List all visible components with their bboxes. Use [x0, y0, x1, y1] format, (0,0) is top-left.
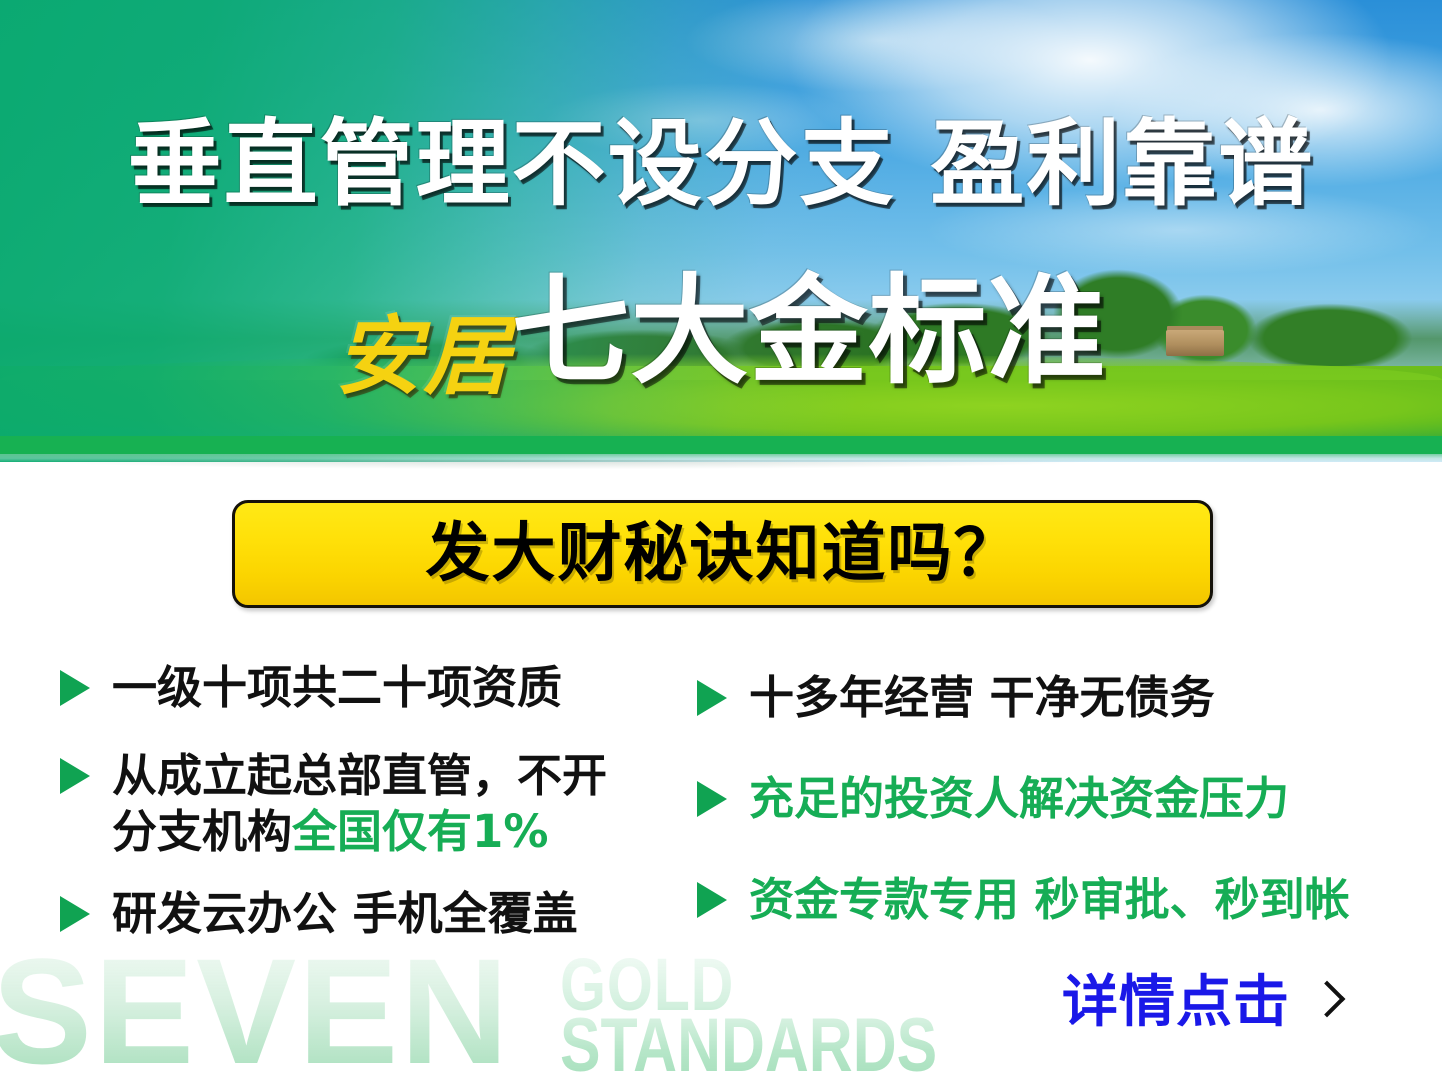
details-click-label: 详情点击 — [1062, 975, 1290, 1031]
hero-drop-shadow — [0, 460, 1442, 474]
play-triangle-icon — [697, 680, 727, 716]
hero-headline-secondary-main: 七大金标准 — [511, 272, 1106, 390]
list-item: 一级十项共二十项资质 — [60, 660, 700, 716]
question-banner-label: 发大财秘诀知道吗？ — [426, 522, 1020, 586]
list-item: 充足的投资人解决资金压力 — [697, 771, 1397, 827]
play-triangle-icon — [697, 781, 727, 817]
hero-headline-brand-accent: 安居 — [335, 314, 511, 400]
list-item: 十多年经营 干净无债务 — [697, 670, 1397, 726]
list-item: 从成立起总部直管，不开 分支机构全国仅有1% — [60, 748, 700, 860]
details-click-link[interactable]: 详情点击 — [1062, 975, 1342, 1031]
green-divider-bar — [0, 436, 1442, 454]
feature-text: 充足的投资人解决资金压力 — [749, 771, 1289, 827]
feature-text: 十多年经营 干净无债务 — [749, 670, 1215, 726]
play-triangle-icon — [60, 896, 90, 932]
question-banner[interactable]: 发大财秘诀知道吗？ — [232, 500, 1213, 608]
watermark-standards: STANDARDS — [560, 1008, 937, 1072]
play-triangle-icon — [60, 670, 90, 706]
chevron-right-icon — [1312, 977, 1342, 1029]
list-item: 资金专款专用 秒审批、秒到帐 — [697, 872, 1397, 928]
feature-column-right: 十多年经营 干净无债务 充足的投资人解决资金压力 资金专款专用 秒审批、秒到帐 — [697, 670, 1397, 973]
feature-column-left: 一级十项共二十项资质 从成立起总部直管，不开 分支机构全国仅有1% 研发云办公 … — [60, 660, 700, 968]
play-triangle-icon — [697, 882, 727, 918]
feature-text: 资金专款专用 秒审批、秒到帐 — [749, 872, 1350, 928]
feature-list: 一级十项共二十项资质 从成立起总部直管，不开 分支机构全国仅有1% 研发云办公 … — [0, 660, 1442, 990]
play-triangle-icon — [60, 758, 90, 794]
feature-text: 研发云办公 手机全覆盖 — [112, 886, 578, 942]
list-item: 研发云办公 手机全覆盖 — [60, 886, 700, 942]
hero-headline-secondary: 安居七大金标准 — [0, 272, 1442, 400]
feature-text: 从成立起总部直管，不开 分支机构全国仅有1% — [112, 748, 607, 860]
hero-headline-primary: 垂直管理不设分支 盈利靠谱 — [0, 118, 1442, 212]
feature-text-highlight: 全国仅有1% — [292, 805, 548, 858]
feature-text: 一级十项共二十项资质 — [112, 660, 562, 716]
